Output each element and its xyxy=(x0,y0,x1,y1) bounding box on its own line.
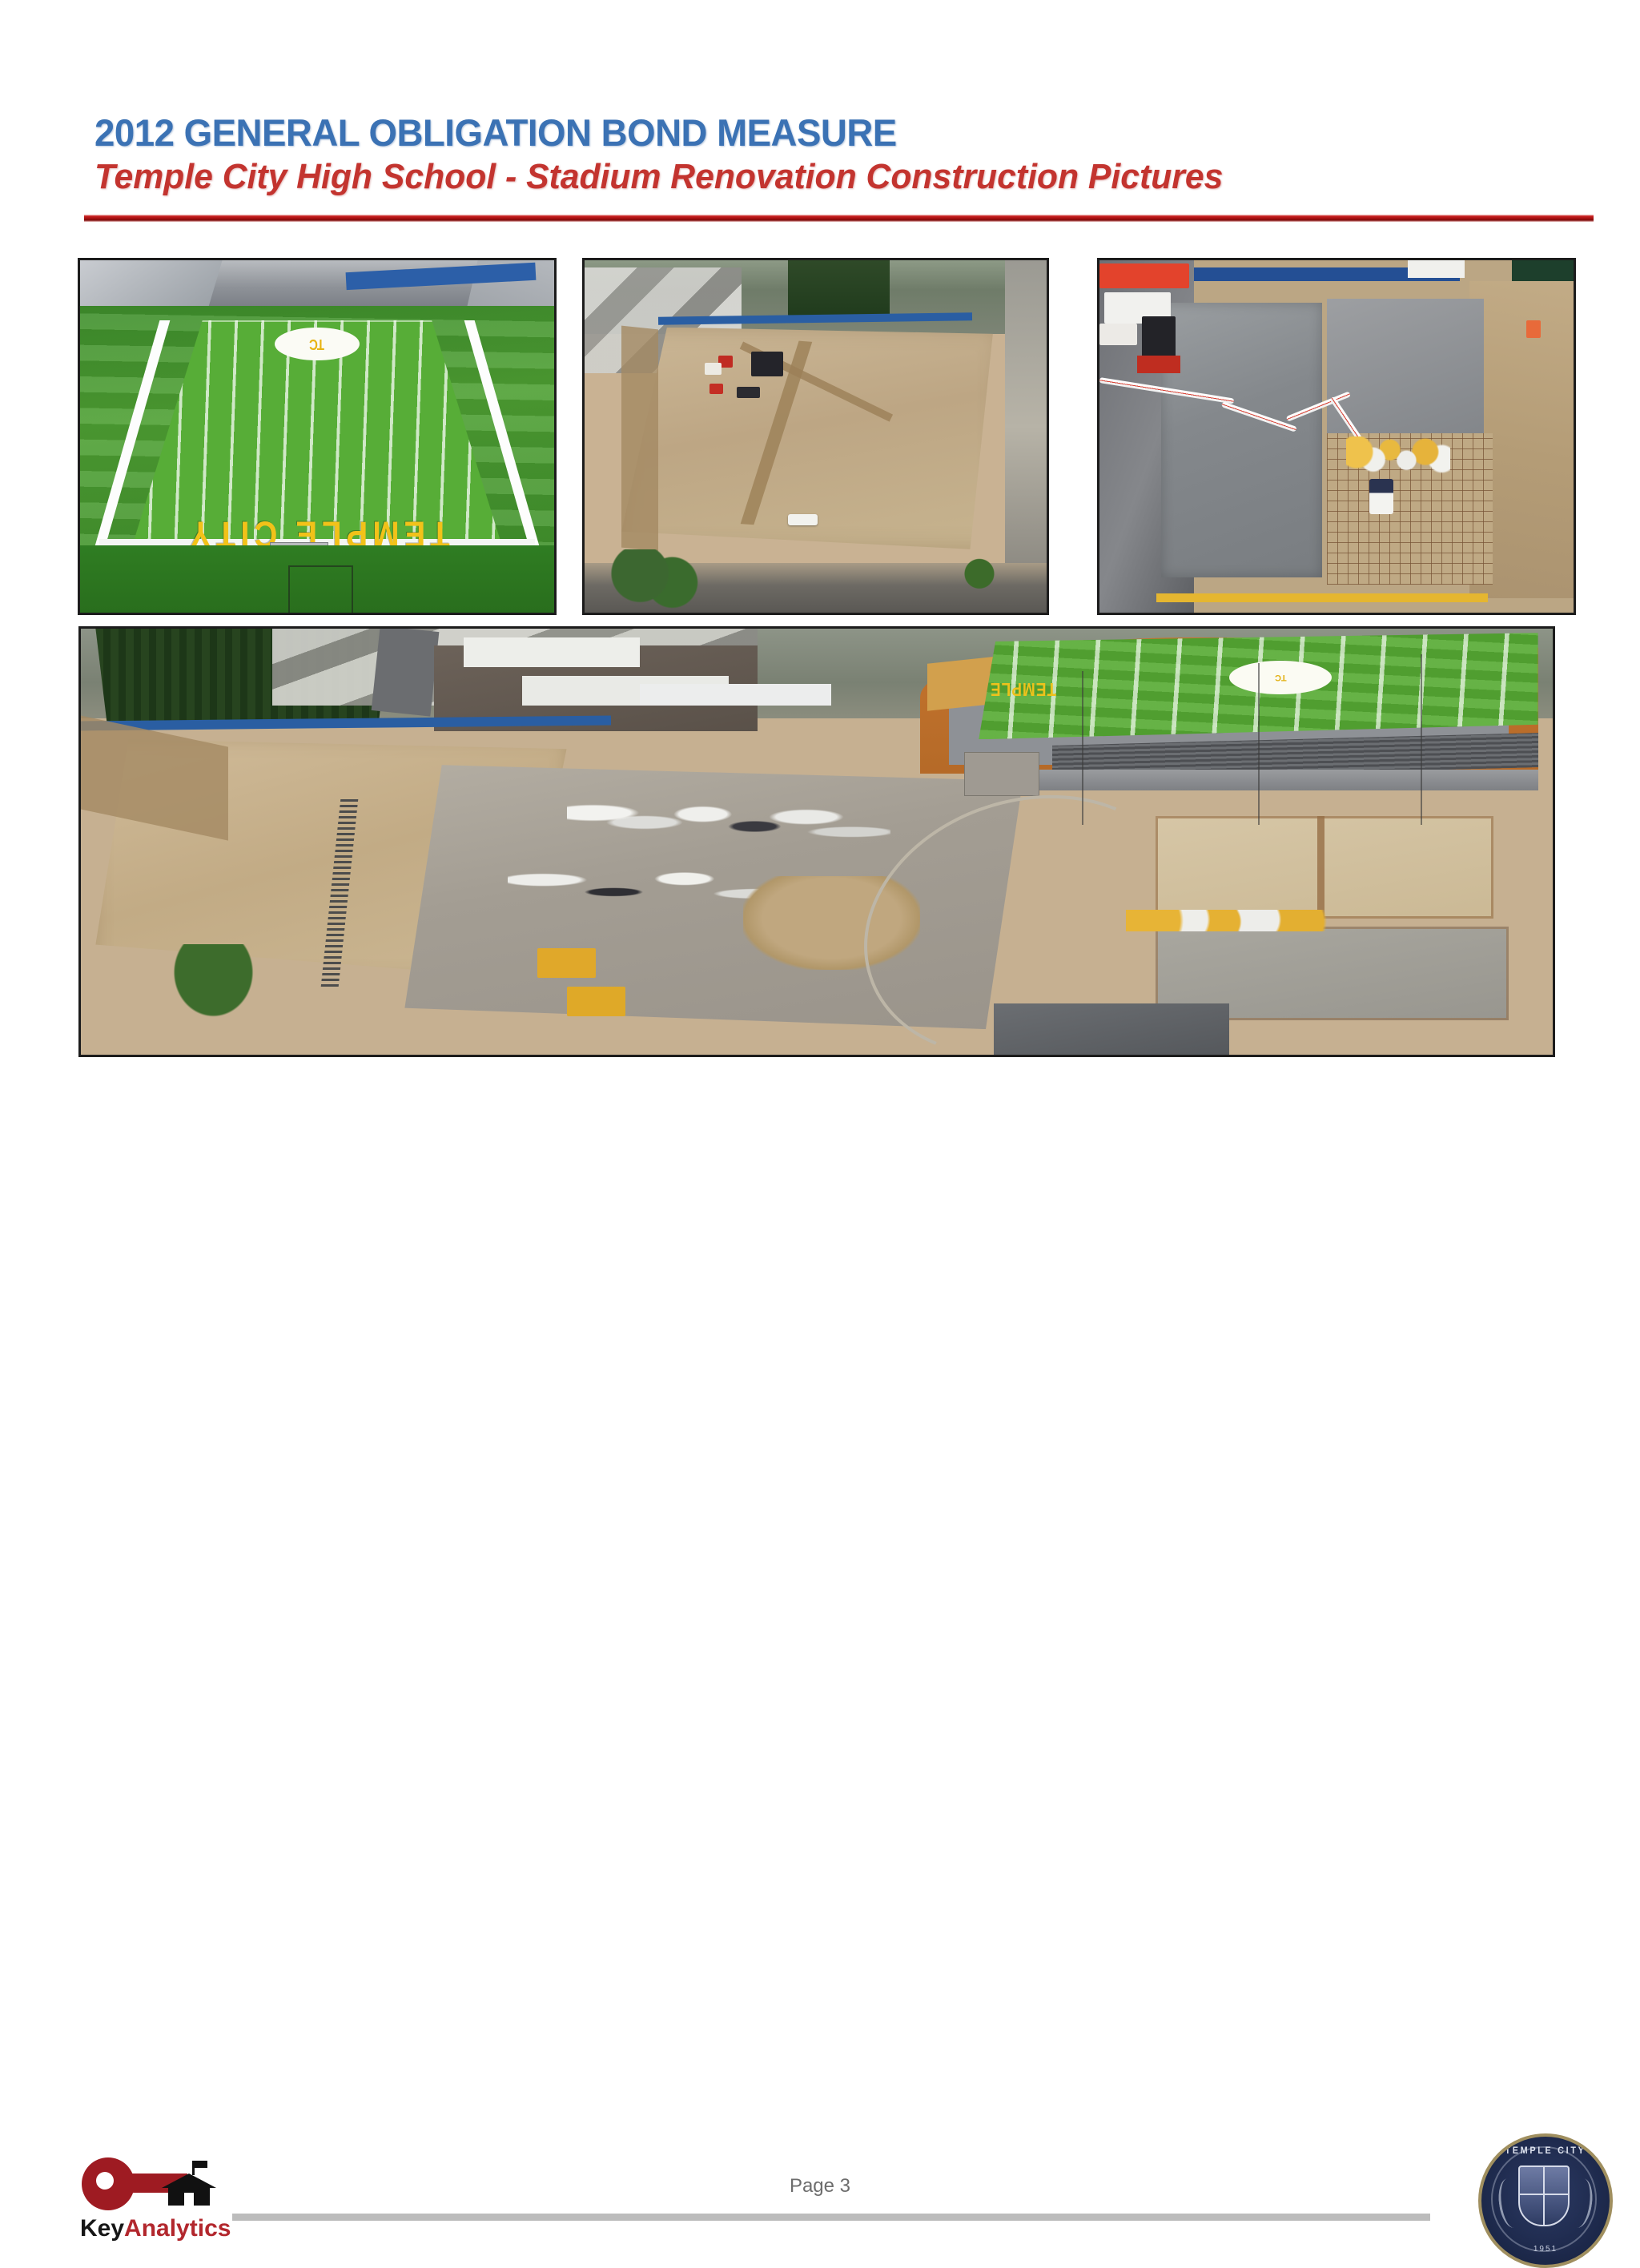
white-panel xyxy=(1408,260,1465,278)
yellow-curb-line xyxy=(1156,593,1488,602)
white-roof-1 xyxy=(464,637,641,667)
photo-1-content: TC TEMPLE CITY xyxy=(80,260,554,613)
poured-slab-left xyxy=(1161,303,1322,577)
key-analytics-logo: KeyAnalytics xyxy=(77,2151,229,2246)
white-equipment xyxy=(705,363,722,375)
palm-tree xyxy=(959,557,1000,606)
wordmark-analytics: Analytics xyxy=(124,2215,231,2242)
new-building-shell xyxy=(994,1003,1229,1055)
page-subtitle: Temple City High School - Stadium Renova… xyxy=(94,157,1223,197)
light-pole-1 xyxy=(1082,671,1083,825)
traffic-cone xyxy=(1526,320,1541,338)
photo-3-content xyxy=(1099,260,1574,613)
worker-figure xyxy=(1369,479,1393,514)
slide-footer: Page 3 KeyAnalytics TEMPLE CITY 1951 xyxy=(0,1062,1640,1230)
schoolhouse-icon xyxy=(162,2161,216,2204)
excavator xyxy=(751,352,783,376)
work-crew xyxy=(1346,436,1450,475)
white-pickup-truck xyxy=(788,514,818,525)
page-number: Page 3 xyxy=(0,2175,1640,2198)
red-vehicle xyxy=(1137,356,1180,373)
photo-concrete-pour xyxy=(1097,258,1576,615)
sand-pad-foundation xyxy=(1156,816,1494,919)
midfield-logo-text: TC xyxy=(310,336,324,352)
photo-graded-dirt-site xyxy=(582,258,1049,615)
endzone-text: TEMPLE xyxy=(990,678,1056,698)
footer-divider xyxy=(232,2214,1430,2221)
wordmark-key: Key xyxy=(80,2215,124,2242)
concrete-pump-boom xyxy=(1099,373,1441,436)
press-box xyxy=(964,752,1039,796)
seal-top-text: TEMPLE CITY xyxy=(1488,2145,1603,2156)
endzone-lettering: TEMPLE xyxy=(971,645,1075,730)
page-title: 2012 GENERAL OBLIGATION BOND MEASURE xyxy=(94,111,897,155)
red-equipment-2 xyxy=(709,384,723,394)
schoolhouse-roof xyxy=(162,2173,216,2188)
midfield-logo: TC xyxy=(275,328,360,361)
dark-equipment xyxy=(737,387,760,398)
soil-berm-left xyxy=(621,325,658,551)
key-analytics-wordmark: KeyAnalytics xyxy=(80,2215,231,2242)
parked-vehicles-row-1 xyxy=(567,799,890,867)
work-crew xyxy=(1126,910,1332,931)
temple-city-seal-icon: TEMPLE CITY 1951 xyxy=(1478,2133,1613,2268)
header-divider xyxy=(84,215,1594,222)
red-trailer xyxy=(1099,263,1189,288)
palm-tree xyxy=(155,944,272,1038)
white-trailer-2 xyxy=(1099,324,1137,344)
neighborhood-street xyxy=(371,629,438,717)
white-roof-3 xyxy=(640,684,831,706)
key-icon-hole xyxy=(96,2172,114,2190)
slide-header: 2012 GENERAL OBLIGATION BOND MEASURE Tem… xyxy=(0,0,1640,232)
form-board-divider xyxy=(1317,816,1324,919)
goal-line-marking xyxy=(288,565,353,613)
photo-wide-campus-overview: TEMPLE TC xyxy=(78,626,1555,1057)
seal-bottom-text: 1951 xyxy=(1481,2245,1610,2254)
stadium-retaining-wall xyxy=(1023,770,1537,791)
midfield-logo-text: TC xyxy=(1275,673,1287,682)
light-pole-3 xyxy=(1421,654,1422,825)
schoolhouse-door xyxy=(184,2193,194,2206)
boom-segment-1 xyxy=(1099,377,1235,404)
seal-shield xyxy=(1518,2165,1570,2226)
flag-icon xyxy=(195,2161,207,2168)
foreground-shrubs xyxy=(608,549,700,609)
photo-completed-football-field: TC TEMPLE CITY xyxy=(78,258,557,615)
yellow-excavator-2 xyxy=(567,987,626,1016)
right-roadway xyxy=(1005,260,1047,563)
tree-line xyxy=(788,260,890,320)
photo-4-content: TEMPLE TC xyxy=(81,629,1553,1055)
photo-2-content xyxy=(585,260,1047,613)
green-screen-fence xyxy=(1512,260,1574,281)
light-pole-2 xyxy=(1258,663,1260,825)
yellow-excavator-1 xyxy=(537,948,597,978)
